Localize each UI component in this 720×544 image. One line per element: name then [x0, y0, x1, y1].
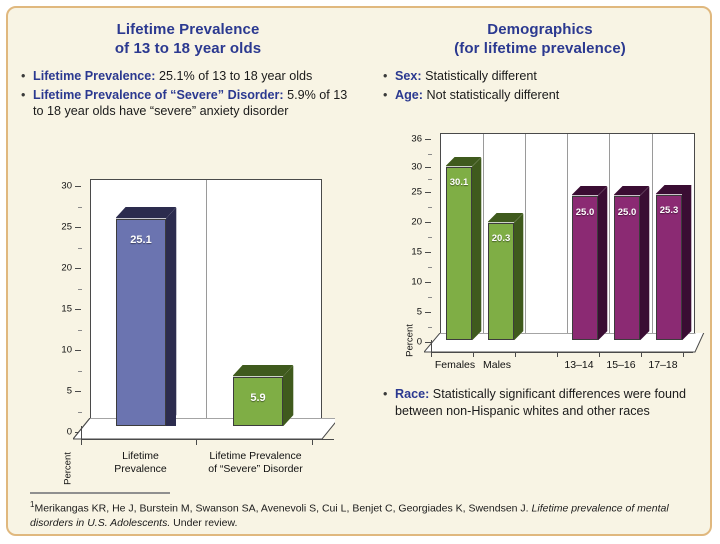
bar-value-label: 5.9	[233, 392, 283, 404]
bullet-sex: • Sex: Statistically different	[380, 68, 700, 85]
bar-age-13-14: 25.0	[572, 133, 598, 340]
xlabel-line: Lifetime Prevalence	[198, 450, 313, 463]
bullet-race: • Race: Statistically significant differ…	[380, 386, 710, 419]
bar-males: 20.3	[488, 133, 514, 340]
right-xlabel-17-18: 17–18	[639, 359, 687, 371]
bullet-lead: Sex:	[395, 69, 422, 83]
bar-lifetime-prevalence: 25.1	[116, 179, 166, 426]
bullet-dot-icon: •	[21, 68, 25, 85]
right-column-bottom: • Race: Statistically significant differ…	[380, 386, 710, 419]
bar-front	[446, 167, 472, 340]
xlabel-line: Prevalence	[88, 463, 193, 476]
bullet-dot-icon: •	[383, 87, 387, 104]
bullet-text: Statistically significant differences we…	[395, 387, 686, 418]
bullet-dot-icon: •	[21, 87, 25, 104]
bullet-lead: Race:	[395, 387, 429, 401]
footnote-tail: Under review.	[170, 517, 237, 529]
bullet-age: • Age: Not statistically different	[380, 87, 700, 104]
ytick-5: 5	[400, 307, 422, 318]
left-column: Lifetime Prevalence of 13 to 18 year old…	[18, 20, 358, 120]
bar-value-label: 25.3	[656, 205, 682, 216]
right-bullet-list: • Sex: Statistically different • Age: No…	[380, 68, 700, 103]
ytick-10: 10	[48, 345, 72, 356]
bullet-lead: Lifetime Prevalence:	[33, 69, 156, 83]
left-bullet-list: • Lifetime Prevalence: 25.1% of 13 to 18…	[18, 68, 358, 120]
right-xlabel-males: Males	[472, 359, 522, 371]
right-title-line1: Demographics	[380, 20, 700, 39]
left-xlabel-0: Lifetime Prevalence	[88, 450, 193, 476]
ytick-15: 15	[400, 247, 422, 258]
bar-front	[116, 219, 166, 426]
bullet-text: Not statistically different	[423, 88, 559, 102]
left-title-line1: Lifetime Prevalence	[18, 20, 358, 39]
left-chart-floor	[73, 418, 335, 440]
right-title-line2: (for lifetime prevalence)	[380, 39, 700, 58]
right-title: Demographics (for lifetime prevalence)	[380, 20, 700, 58]
bullet-lead: Age:	[395, 88, 423, 102]
bar-severe-disorder: 5.9	[233, 179, 283, 426]
left-chart-divider	[206, 180, 207, 425]
slide-panel: Lifetime Prevalence of 13 to 18 year old…	[6, 6, 712, 536]
bar-value-label: 25.1	[116, 234, 166, 246]
race-bullet-list: • Race: Statistically significant differ…	[380, 386, 710, 419]
xlabel-line: of “Severe” Disorder	[198, 463, 313, 476]
right-xlabel-15-16: 15–16	[597, 359, 645, 371]
bar-value-label: 25.0	[572, 207, 598, 218]
bullet-dot-icon: •	[383, 386, 387, 403]
ytick-0: 0	[400, 337, 422, 348]
footnote-authors: Merikangas KR, He J, Burstein M, Swanson…	[34, 503, 531, 515]
footnote: 1Merikangas KR, He J, Burstein M, Swanso…	[30, 498, 702, 531]
left-xtick-1	[196, 439, 197, 445]
bullet-text: Statistically different	[422, 69, 537, 83]
bar-age-15-16: 25.0	[614, 133, 640, 340]
bar-value-label: 25.0	[614, 207, 640, 218]
xlabel-line: Lifetime	[88, 450, 193, 463]
left-xtick-0	[81, 439, 82, 445]
ytick-0: 0	[48, 427, 72, 438]
left-title-line2: of 13 to 18 year olds	[18, 39, 358, 58]
bar-females: 30.1	[446, 133, 472, 340]
ytick-5: 5	[48, 386, 72, 397]
bar-age-17-18: 25.3	[656, 133, 682, 340]
ytick-10: 10	[400, 277, 422, 288]
bullet-text: 25.1% of 13 to 18 year olds	[156, 69, 313, 83]
bar-value-label: 30.1	[446, 177, 472, 188]
bullet-lifetime-prevalence: • Lifetime Prevalence: 25.1% of 13 to 18…	[18, 68, 358, 85]
ytick-20: 20	[48, 263, 72, 274]
left-xtick-2	[312, 439, 313, 445]
footnote-rule	[30, 492, 170, 494]
ytick-30: 30	[400, 162, 422, 173]
ytick-20: 20	[400, 217, 422, 228]
left-xlabel-1: Lifetime Prevalence of “Severe” Disorder	[198, 450, 313, 476]
demographics-chart: Percent 36 30 25 20 15 10 5 0	[400, 130, 712, 370]
ytick-30: 30	[48, 181, 72, 192]
ytick-25: 25	[400, 187, 422, 198]
left-title: Lifetime Prevalence of 13 to 18 year old…	[18, 20, 358, 58]
ytick-36: 36	[400, 134, 422, 145]
ytick-15: 15	[48, 304, 72, 315]
bullet-lead: Lifetime Prevalence of “Severe” Disorder…	[33, 88, 284, 102]
bullet-dot-icon: •	[383, 68, 387, 85]
bar-value-label: 20.3	[488, 233, 514, 244]
lifetime-prevalence-chart: Percent 30 25 20 15 10 5 0	[48, 173, 358, 473]
bullet-severe-disorder: • Lifetime Prevalence of “Severe” Disord…	[18, 87, 358, 120]
right-xlabel-13-14: 13–14	[555, 359, 603, 371]
left-chart-ylabel: Percent	[63, 439, 74, 499]
ytick-25: 25	[48, 222, 72, 233]
right-column: Demographics (for lifetime prevalence) •…	[380, 20, 700, 103]
bar-front	[656, 195, 682, 341]
